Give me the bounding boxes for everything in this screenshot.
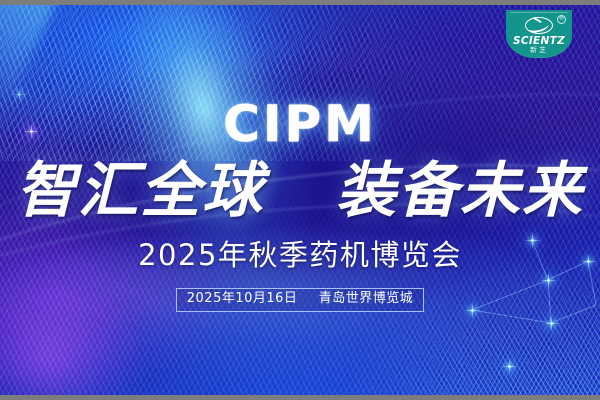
brand-acronym-cipm: CIPM [0,99,600,149]
headline: 智汇全球 装备未来 [0,161,600,221]
scientz-logo[interactable]: ® SCIENTZ 新芝 [506,10,572,58]
logo-wordmark: SCIENTZ [506,36,572,47]
bottom-frame-bar [0,395,600,400]
event-subtitle: 2025年秋季药机博览会 [0,241,600,270]
headline-part-2: 装备未来 [336,156,584,226]
event-date: 2025年10月16日 [187,291,298,306]
cipm-promo-banner: CIPM 智汇全球 装备未来 2025年秋季药机博览会 2025年10月16日 … [0,0,600,400]
banner-content: CIPM 智汇全球 装备未来 2025年秋季药机博览会 2025年10月16日 … [0,5,600,395]
date-venue-box: 2025年10月16日 青岛世界博览城 [176,288,424,312]
top-frame-bar [0,0,600,5]
event-venue: 青岛世界博览城 [319,291,414,306]
logo-chinese-name: 新芝 [506,47,572,54]
date-venue-wrapper: 2025年10月16日 青岛世界博览城 [0,288,600,312]
headline-part-1: 智汇全球 [16,156,264,226]
logo-emblem-icon [525,17,553,34]
registered-trademark-icon: ® [557,15,566,24]
banner-stage: CIPM 智汇全球 装备未来 2025年秋季药机博览会 2025年10月16日 … [0,5,600,395]
